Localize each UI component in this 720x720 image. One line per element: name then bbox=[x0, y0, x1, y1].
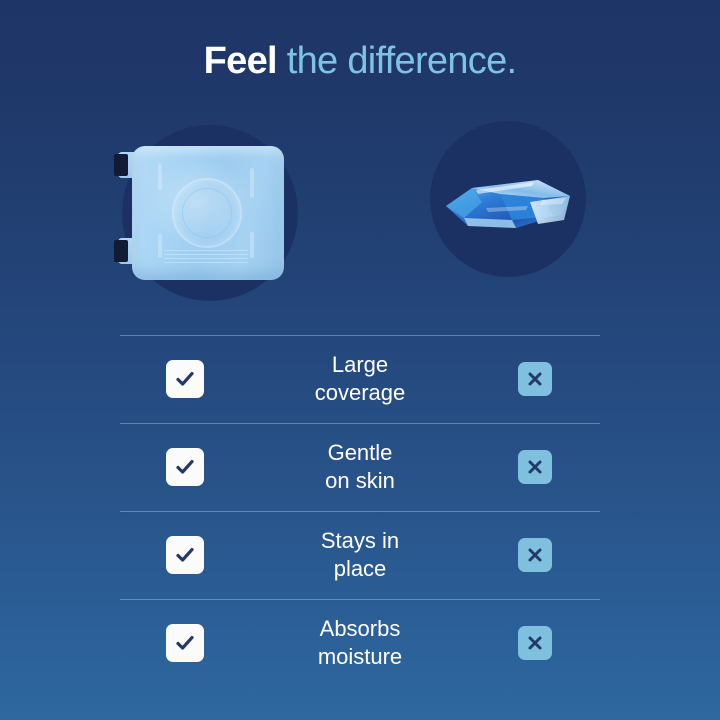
check-icon bbox=[166, 360, 204, 398]
pack-clip-top bbox=[114, 154, 128, 176]
feature-label-line1: Stays in bbox=[250, 527, 470, 555]
right-product-cell bbox=[470, 450, 600, 484]
cross-icon bbox=[518, 362, 552, 396]
pack-rib bbox=[158, 234, 162, 258]
right-product-cell bbox=[470, 538, 600, 572]
comparison-infographic: Feel the difference. bbox=[0, 0, 720, 720]
feature-label: Absorbs moisture bbox=[250, 615, 470, 671]
pack-rib bbox=[250, 168, 254, 198]
feature-label-line1: Gentle bbox=[250, 439, 470, 467]
table-row: Gentle on skin bbox=[120, 423, 600, 511]
crumpled-gel-pack-image bbox=[442, 168, 578, 240]
page-title: Feel the difference. bbox=[0, 38, 720, 84]
check-icon bbox=[166, 536, 204, 574]
check-icon bbox=[166, 624, 204, 662]
feature-label: Gentle on skin bbox=[250, 439, 470, 495]
pack-body bbox=[132, 146, 284, 280]
feature-label-line2: on skin bbox=[250, 467, 470, 495]
feature-label: Large coverage bbox=[250, 351, 470, 407]
crumpled-pack-svg bbox=[442, 168, 578, 240]
cross-icon bbox=[518, 538, 552, 572]
large-gel-ice-pack-image bbox=[114, 146, 284, 280]
right-product-cell bbox=[470, 362, 600, 396]
cross-icon bbox=[518, 626, 552, 660]
right-product-cell bbox=[470, 626, 600, 660]
table-row: Large coverage bbox=[120, 335, 600, 423]
feature-label-line1: Absorbs bbox=[250, 615, 470, 643]
left-product-cell bbox=[120, 624, 250, 662]
check-icon bbox=[166, 448, 204, 486]
feature-label-line2: coverage bbox=[250, 379, 470, 407]
headline-light: the difference. bbox=[277, 40, 517, 82]
product-hero bbox=[0, 108, 720, 318]
left-product-cell bbox=[120, 536, 250, 574]
pack-rib bbox=[158, 164, 162, 190]
pack-emboss-ring bbox=[172, 178, 242, 248]
left-product-cell bbox=[120, 360, 250, 398]
cross-icon bbox=[518, 450, 552, 484]
pack-rib bbox=[250, 232, 254, 258]
left-product-cell bbox=[120, 448, 250, 486]
pack-printed-text bbox=[164, 250, 248, 264]
table-row: Absorbs moisture bbox=[120, 599, 600, 687]
pack-clip-bottom bbox=[114, 240, 128, 262]
feature-label: Stays in place bbox=[250, 527, 470, 583]
feature-label-line1: Large bbox=[250, 351, 470, 379]
table-row: Stays in place bbox=[120, 511, 600, 599]
feature-label-line2: moisture bbox=[250, 643, 470, 671]
headline-bold: Feel bbox=[204, 40, 277, 82]
feature-label-line2: place bbox=[250, 555, 470, 583]
